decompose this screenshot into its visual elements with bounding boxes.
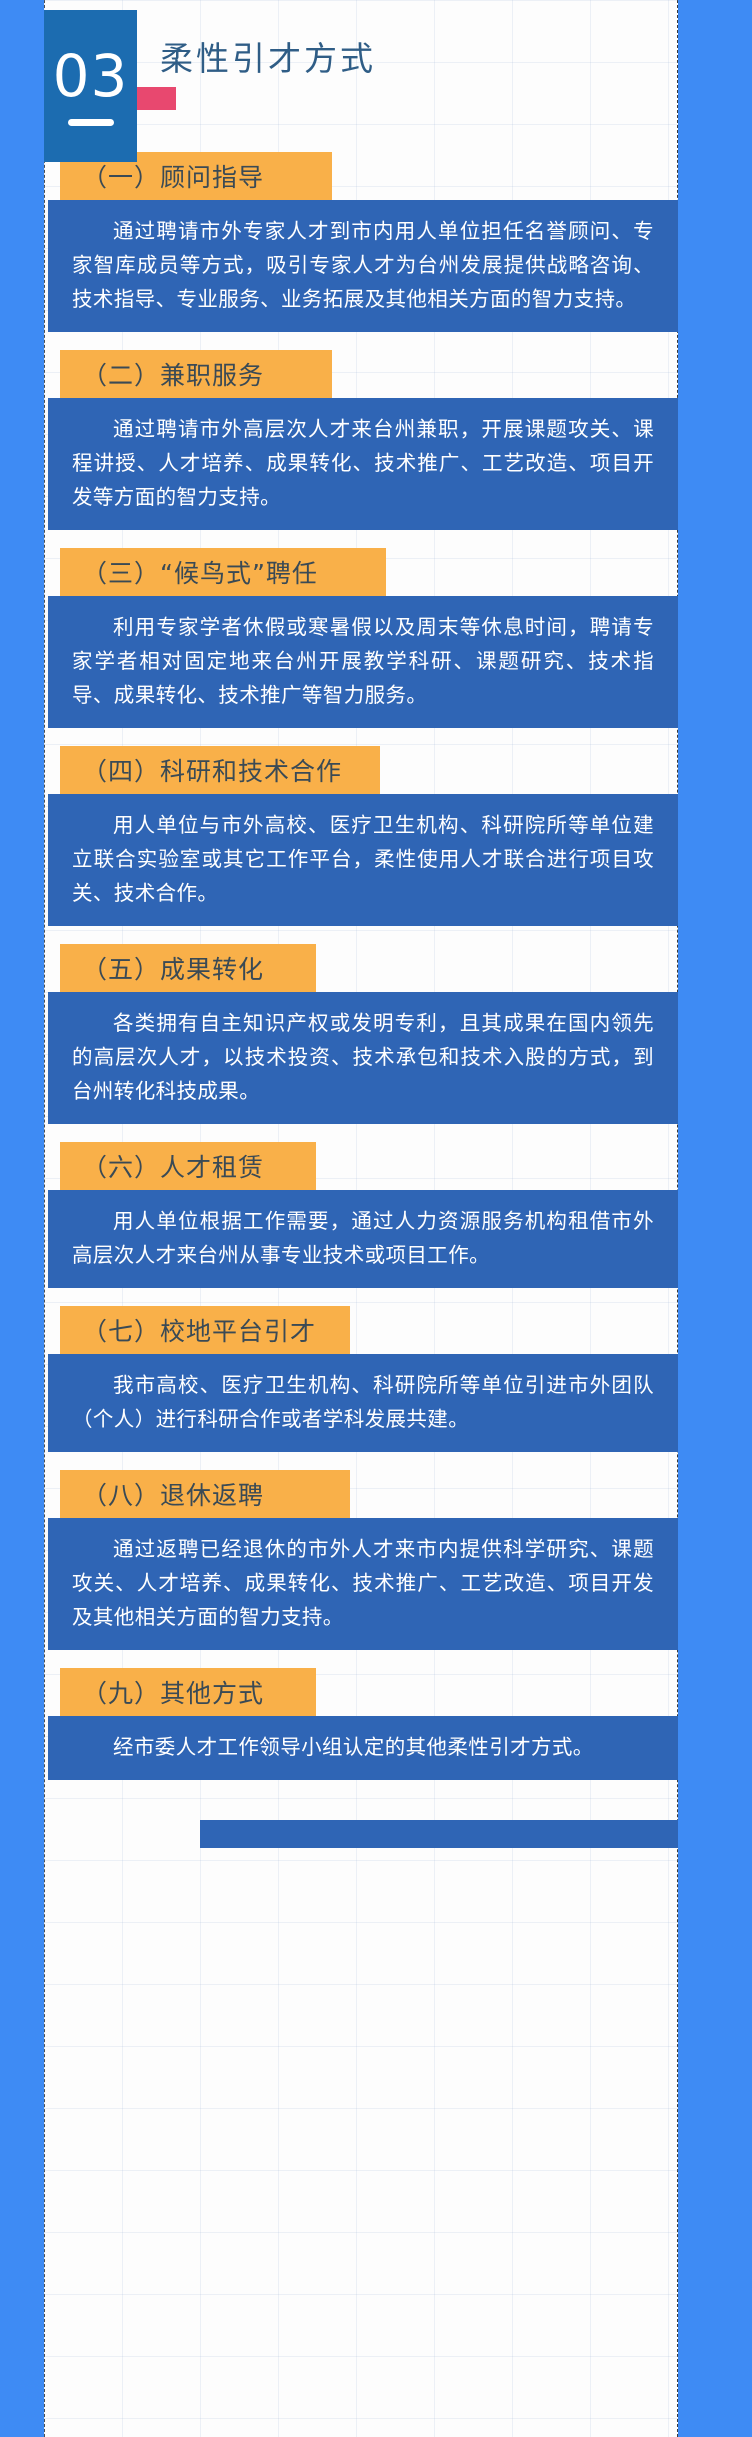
bottom-spacer <box>0 1848 752 1882</box>
section-heading-8: （八）退休返聘 <box>60 1470 350 1518</box>
section-paragraph-3: 利用专家学者休假或寒暑假以及周末等休息时间，聘请专家学者相对固定地来台州开展教学… <box>72 610 654 712</box>
section-heading-3: （三）“候鸟式”聘任 <box>60 548 386 596</box>
page-title: 柔性引才方式 <box>160 39 376 79</box>
footer-accent-bar <box>200 1820 678 1848</box>
section-heading-7: （七）校地平台引才 <box>60 1306 350 1354</box>
section-item-1: （一）顾问指导 通过聘请市外专家人才到市内用人单位担任名誉顾问、专家智库成员等方… <box>0 152 752 332</box>
section-body-7: 我市高校、医疗卫生机构、科研院所等单位引进市外团队（个人）进行科研合作或者学科发… <box>48 1354 678 1452</box>
poster-content: 03 柔性引才方式 （一）顾问指导 通过聘请市外专家人才到市内用人单位担任名誉顾… <box>0 0 752 1882</box>
section-body-6: 用人单位根据工作需要，通过人力资源服务机构租借市外高层次人才来台州从事专业技术或… <box>48 1190 678 1288</box>
section-paragraph-9: 经市委人才工作领导小组认定的其他柔性引才方式。 <box>72 1730 654 1764</box>
section-item-5: （五）成果转化 各类拥有自主知识产权或发明专利，且其成果在国内领先的高层次人才，… <box>0 944 752 1124</box>
section-paragraph-5: 各类拥有自主知识产权或发明专利，且其成果在国内领先的高层次人才，以技术投资、技术… <box>72 1006 654 1108</box>
section-item-4: （四）科研和技术合作 用人单位与市外高校、医疗卫生机构、科研院所等单位建立联合实… <box>0 746 752 926</box>
section-item-8: （八）退休返聘 通过返聘已经退休的市外人才来市内提供科学研究、课题攻关、人才培养… <box>0 1470 752 1650</box>
section-paragraph-4: 用人单位与市外高校、医疗卫生机构、科研院所等单位建立联合实验室或其它工作平台，柔… <box>72 808 654 910</box>
section-paragraph-2: 通过聘请市外高层次人才来台州兼职，开展课题攻关、课程讲授、人才培养、成果转化、技… <box>72 412 654 514</box>
section-heading-2: （二）兼职服务 <box>60 350 332 398</box>
section-paragraph-6: 用人单位根据工作需要，通过人力资源服务机构租借市外高层次人才来台州从事专业技术或… <box>72 1204 654 1272</box>
poster-header: 03 柔性引才方式 <box>0 0 752 152</box>
section-body-8: 通过返聘已经退休的市外人才来市内提供科学研究、课题攻关、人才培养、成果转化、技术… <box>48 1518 678 1650</box>
section-item-9: （九）其他方式 经市委人才工作领导小组认定的其他柔性引才方式。 <box>0 1668 752 1780</box>
section-body-2: 通过聘请市外高层次人才来台州兼职，开展课题攻关、课程讲授、人才培养、成果转化、技… <box>48 398 678 530</box>
section-item-7: （七）校地平台引才 我市高校、医疗卫生机构、科研院所等单位引进市外团队（个人）进… <box>0 1306 752 1452</box>
section-heading-5: （五）成果转化 <box>60 944 316 992</box>
section-paragraph-8: 通过返聘已经退休的市外人才来市内提供科学研究、课题攻关、人才培养、成果转化、技术… <box>72 1532 654 1634</box>
infographic-poster: 03 柔性引才方式 （一）顾问指导 通过聘请市外专家人才到市内用人单位担任名誉顾… <box>0 0 752 2437</box>
section-body-9: 经市委人才工作领导小组认定的其他柔性引才方式。 <box>48 1716 678 1780</box>
section-heading-4: （四）科研和技术合作 <box>60 746 380 794</box>
section-item-3: （三）“候鸟式”聘任 利用专家学者休假或寒暑假以及周末等休息时间，聘请专家学者相… <box>0 548 752 728</box>
section-paragraph-1: 通过聘请市外专家人才到市内用人单位担任名誉顾问、专家智库成员等方式，吸引专家人才… <box>72 214 654 316</box>
section-body-5: 各类拥有自主知识产权或发明专利，且其成果在国内领先的高层次人才，以技术投资、技术… <box>48 992 678 1124</box>
section-number: 03 <box>53 47 129 105</box>
section-body-3: 利用专家学者休假或寒暑假以及周末等休息时间，聘请专家学者相对固定地来台州开展教学… <box>48 596 678 728</box>
section-item-2: （二）兼职服务 通过聘请市外高层次人才来台州兼职，开展课题攻关、课程讲授、人才培… <box>0 350 752 530</box>
section-paragraph-7: 我市高校、医疗卫生机构、科研院所等单位引进市外团队（个人）进行科研合作或者学科发… <box>72 1368 654 1436</box>
section-heading-9: （九）其他方式 <box>60 1668 316 1716</box>
section-heading-6: （六）人才租赁 <box>60 1142 316 1190</box>
section-item-6: （六）人才租赁 用人单位根据工作需要，通过人力资源服务机构租借市外高层次人才来台… <box>0 1142 752 1288</box>
number-underline-rule <box>68 119 114 126</box>
section-number-chip: 03 <box>44 10 137 162</box>
section-body-1: 通过聘请市外专家人才到市内用人单位担任名誉顾问、专家智库成员等方式，吸引专家人才… <box>48 200 678 332</box>
section-body-4: 用人单位与市外高校、医疗卫生机构、科研院所等单位建立联合实验室或其它工作平台，柔… <box>48 794 678 926</box>
